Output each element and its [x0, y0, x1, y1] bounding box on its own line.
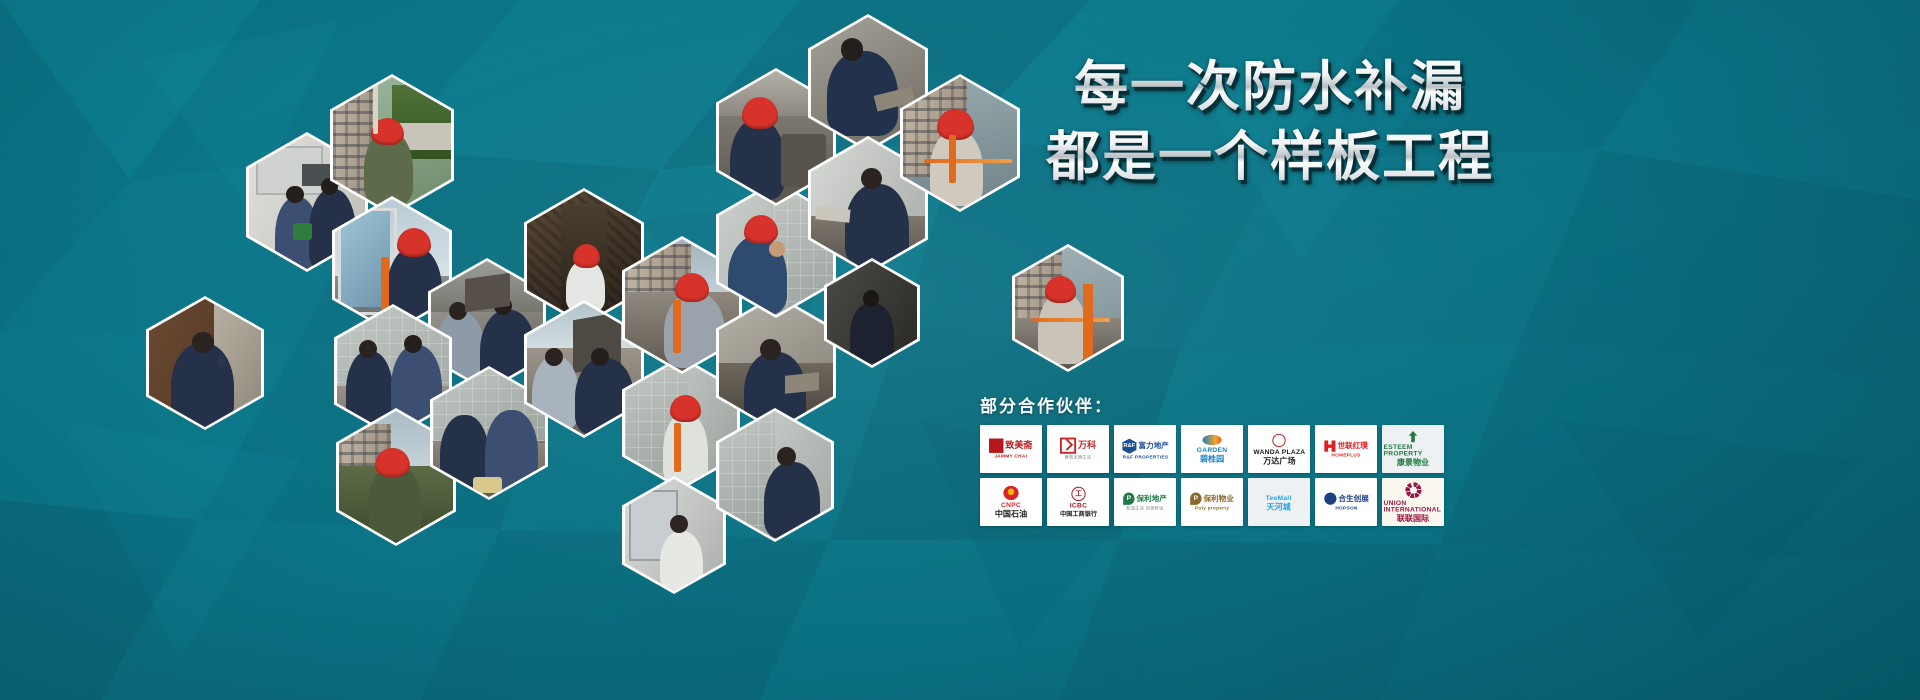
partner-logo-zh: 联联国际	[1397, 514, 1429, 522]
partner-logo-en: HOPSON	[1335, 507, 1357, 512]
partner-logo-zh: 康景物业	[1397, 459, 1429, 467]
partner-logo-en: ESTEEM PROPERTY	[1384, 444, 1443, 457]
partner-logo-sub: 和谐生活 自然舒适	[1126, 507, 1163, 511]
partner-logo-zh: 天河城	[1267, 503, 1291, 511]
partner-logo-zh: 世联红璞	[1337, 442, 1367, 450]
partner-logo-seal: 致美斋JAMMY CHAI	[980, 425, 1042, 473]
partner-logo-en: R&F PROPERTIES	[1122, 455, 1168, 460]
headline-line-2: 都是一个样板工程	[1030, 122, 1510, 192]
partner-logo-esteem: ESTEEM PROPERTY康景物业	[1382, 425, 1444, 473]
photo-collage	[0, 0, 1920, 700]
partner-logo-en: HOMEPLUS	[1331, 453, 1360, 458]
partner-logo-en: JAMMY CHAI	[995, 455, 1028, 460]
partner-logo-cnpc: CNPC中国石油	[980, 478, 1042, 526]
partner-logo-homeplus: 世联红璞HOMEPLUS	[1315, 425, 1377, 473]
partner-logo-zh: 中国工商银行	[1059, 511, 1096, 517]
partner-logo-wanda: WANDA PLAZA万达广场	[1248, 425, 1310, 473]
partner-logo-zh: 保利物业	[1203, 495, 1233, 503]
photo-hex-tile-18	[1012, 244, 1124, 372]
photo-hex-tile-21	[622, 476, 726, 594]
headline-line-1: 每一次防水补漏	[1030, 52, 1510, 122]
partner-logo-en: CNPC	[1001, 502, 1021, 509]
photo-hex-tile-08	[146, 296, 264, 430]
partners-title: 部分合作伙伴：	[980, 392, 1450, 417]
partner-logo-zh: 合生创展	[1338, 495, 1368, 503]
partner-logo-zh: 保利地产	[1136, 495, 1166, 503]
partner-logo-en: Poly property	[1195, 507, 1229, 512]
partner-logo-en: GARDEN	[1197, 447, 1228, 454]
hero-banner: 每一次防水补漏 都是一个样板工程 部分合作伙伴： 致美斋JAMMY CHAI万科…	[0, 0, 1920, 700]
partner-logo-rf: R&F富力地产R&F PROPERTIES	[1114, 425, 1176, 473]
partner-logo-zh: 万达广场	[1263, 457, 1295, 465]
partner-logo-grid: 致美斋JAMMY CHAI万科建筑无限生活R&F富力地产R&F PROPERTI…	[980, 425, 1450, 526]
partner-logo-en: ICBC	[1069, 503, 1086, 510]
partner-logo-en: UNION INTERNATIONAL	[1384, 500, 1443, 513]
partner-logo-poly: P保利地产和谐生活 自然舒适	[1114, 478, 1176, 526]
partner-logo-en: TeeMall	[1266, 495, 1292, 502]
headline-block: 每一次防水补漏 都是一个样板工程	[1030, 52, 1510, 192]
partner-logo-zh: 致美斋	[1006, 441, 1033, 450]
partner-logo-country-garden: GARDEN碧桂园	[1181, 425, 1243, 473]
partner-logo-poly-prop: P保利物业Poly property	[1181, 478, 1243, 526]
partner-logo-en: WANDA PLAZA	[1253, 449, 1305, 456]
partner-logo-vanke: 万科建筑无限生活	[1047, 425, 1109, 473]
partner-logo-union: UNION INTERNATIONAL联联国际	[1382, 478, 1444, 526]
partner-logo-icbc: 工ICBC中国工商银行	[1047, 478, 1109, 526]
partner-logo-zh: 碧桂园	[1200, 455, 1224, 463]
partner-logo-teemall: TeeMall天河城	[1248, 478, 1310, 526]
partner-logo-zh: 中国石油	[995, 510, 1027, 518]
partner-logo-hopson: 合生创展HOPSON	[1315, 478, 1377, 526]
partner-logo-sub: 建筑无限生活	[1065, 456, 1092, 460]
photo-hex-tile-16	[824, 258, 920, 368]
partner-logo-zh: 万科	[1078, 441, 1096, 450]
partner-logo-zh: 富力地产	[1138, 442, 1168, 450]
partners-block: 部分合作伙伴： 致美斋JAMMY CHAI万科建筑无限生活R&F富力地产R&F …	[980, 392, 1450, 526]
